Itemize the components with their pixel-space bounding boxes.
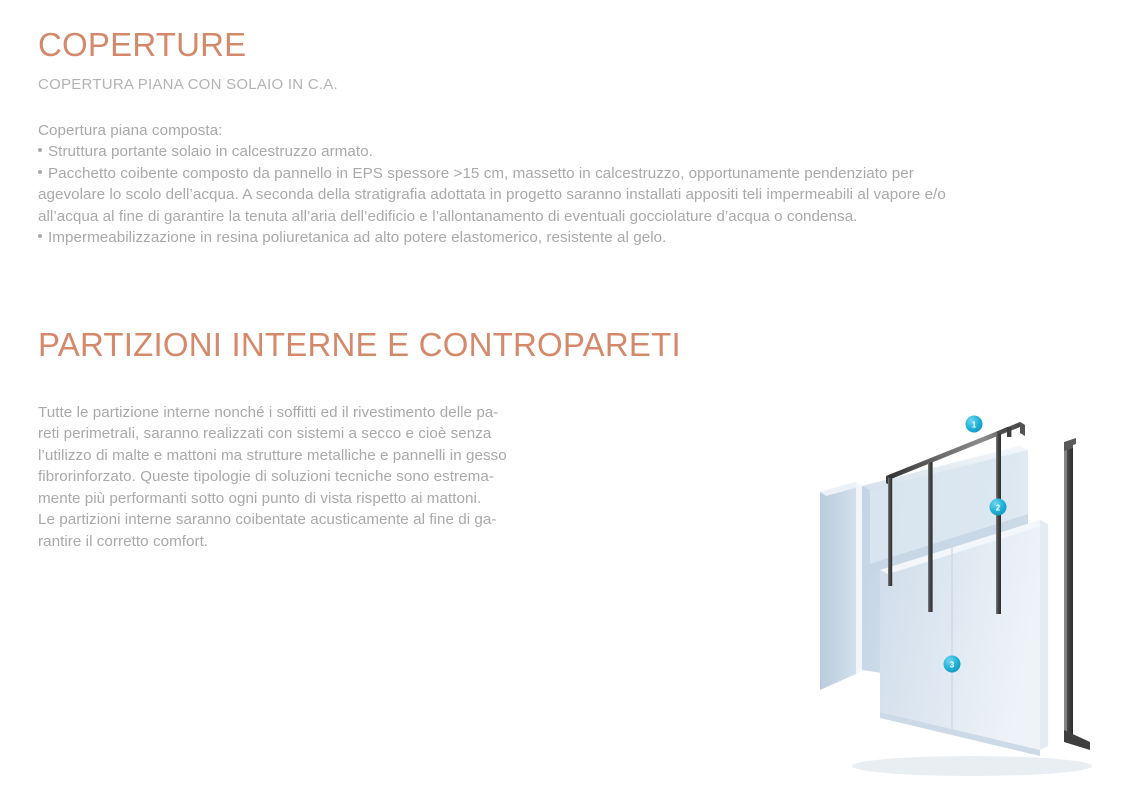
drywall-partition-svg: 1 2 3 [802, 394, 1134, 794]
document-page: COPERTURE COPERTURA PIANA CON SOLAIO IN … [0, 0, 1134, 805]
vertical-stud-c [996, 432, 1001, 614]
bullet-continuation: all’acqua al fine di garantire la tenuta… [38, 206, 1098, 228]
bullet-dot-icon [38, 170, 42, 174]
paragraph-line: Le partizioni interne saranno coibentate… [38, 509, 568, 531]
callout-badge-2: 2 [990, 499, 1007, 516]
body-text-partizioni: Tutte le partizione interne nonché i sof… [38, 402, 568, 553]
paragraph-line: l’utilizzo di malte e mattoni ma struttu… [38, 445, 568, 467]
callout-badge-3: 3 [944, 656, 961, 673]
body-text-coperture: Copertura piana composta: Struttura port… [38, 120, 1098, 249]
top-track-return-lip [1020, 422, 1025, 436]
callout-badge-1: 1 [966, 416, 983, 433]
ground-shadow [852, 756, 1092, 776]
c-stud-profile-base-track [1064, 730, 1090, 750]
paragraph-line: fibrorinforzato. Queste tipologie di sol… [38, 466, 568, 488]
paragraph-line: Tutte le partizione interne nonché i sof… [38, 402, 568, 424]
callout-badge-3-label: 3 [950, 660, 955, 669]
bullet-text: Impermeabilizzazione in resina poliureta… [48, 229, 666, 246]
section-coperture: COPERTURE COPERTURA PIANA CON SOLAIO IN … [38, 28, 1098, 249]
return-wall-face [820, 482, 856, 690]
vertical-stud-b [928, 462, 933, 612]
vertical-stud-c-head-lip [1007, 427, 1011, 437]
c-stud-profile-highlight [1064, 442, 1067, 742]
bullet-dot-icon [38, 148, 42, 152]
bullet-dot-icon [38, 234, 42, 238]
callout-badge-1-label: 1 [972, 420, 977, 429]
bullet-item: Impermeabilizzazione in resina poliureta… [38, 227, 1098, 249]
bullet-text: Pacchetto coibente composto da pannello … [48, 165, 914, 182]
page-title-partizioni: PARTIZIONI INTERNE E CONTROPARETI [38, 328, 738, 363]
bullet-item: Pacchetto coibente composto da pannello … [38, 163, 1098, 185]
board-near-side-edge [1040, 520, 1048, 750]
paragraph-line: reti perimetrali, saranno realizzati con… [38, 423, 568, 445]
intro-line: Copertura piana composta: [38, 120, 1098, 142]
return-wall-side-edge [856, 482, 862, 674]
page-title-coperture: COPERTURE [38, 28, 1098, 63]
callout-badge-2-label: 2 [996, 503, 1001, 512]
paragraph-line: rantire il corretto comfort. [38, 531, 568, 553]
bullet-continuation: agevolare lo scolo dell’acqua. A seconda… [38, 184, 1098, 206]
bullet-text: Struttura portante solaio in calcestruzz… [48, 143, 373, 160]
bullet-item: Struttura portante solaio in calcestruzz… [38, 141, 1098, 163]
vertical-stud-a [888, 478, 892, 586]
drywall-partition-illustration: 1 2 3 [802, 394, 1134, 794]
subtitle-coperture: COPERTURA PIANA CON SOLAIO IN C.A. [38, 76, 1098, 94]
paragraph-line: mente più performanti sotto ogni punto d… [38, 488, 568, 510]
section-partizioni: PARTIZIONI INTERNE E CONTROPARETI Tutte … [38, 328, 738, 552]
